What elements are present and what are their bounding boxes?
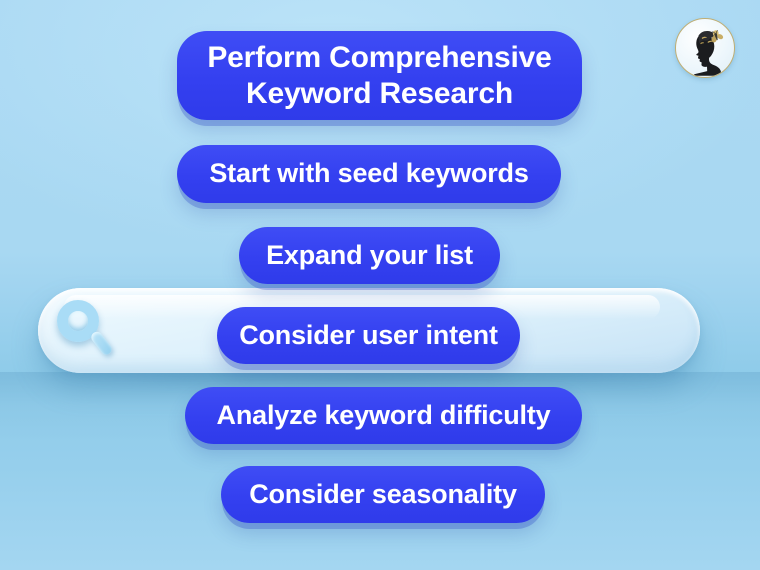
step-pill-1[interactable]: Perform Comprehensive Keyword Research bbox=[177, 31, 582, 120]
poster-canvas: Perform Comprehensive Keyword ResearchSt… bbox=[0, 0, 760, 570]
woman-profile-butterfly-icon bbox=[676, 19, 735, 78]
step-pill-6[interactable]: Consider seasonality bbox=[221, 466, 545, 523]
step-pill-5[interactable]: Analyze keyword difficulty bbox=[185, 387, 582, 444]
step-pill-2[interactable]: Start with seed keywords bbox=[177, 145, 561, 203]
brand-logo-badge[interactable] bbox=[675, 18, 735, 78]
step-pill-4[interactable]: Consider user intent bbox=[217, 307, 520, 364]
step-pill-3[interactable]: Expand your list bbox=[239, 227, 500, 284]
